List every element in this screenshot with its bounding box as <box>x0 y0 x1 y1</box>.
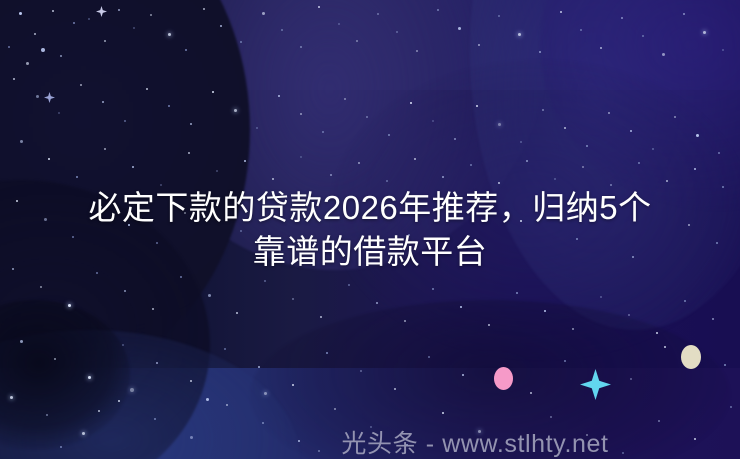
star-dot <box>460 306 462 308</box>
star-dot <box>236 312 238 314</box>
band-top <box>0 0 740 90</box>
star-dot <box>432 288 434 290</box>
star-dot <box>122 344 124 346</box>
star-dot <box>52 10 54 12</box>
watermark-text: 光头条 - www.stlhty.net <box>341 424 608 459</box>
star-dot <box>410 102 412 104</box>
small-sparkle-left <box>44 92 55 103</box>
star-dot <box>658 420 660 422</box>
star-dot <box>386 180 388 182</box>
star-dot <box>300 156 302 158</box>
star-dot <box>203 8 205 10</box>
star-dot <box>216 170 218 172</box>
star-dot <box>572 328 574 330</box>
star-dot <box>703 31 706 34</box>
blue-blob-right <box>470 0 740 330</box>
star-dot <box>88 18 90 20</box>
star-dot <box>462 374 464 376</box>
indigo-blob-right <box>540 0 740 210</box>
star-dot <box>694 168 696 170</box>
star-dot <box>156 362 158 364</box>
star-dot <box>580 29 582 31</box>
star-dot <box>642 35 644 37</box>
star-dot <box>10 396 13 399</box>
star-dot <box>498 123 501 126</box>
star-dot <box>133 27 135 29</box>
star-dot <box>358 162 360 164</box>
star-dot <box>58 112 60 114</box>
star-dot <box>80 84 82 86</box>
star-dot <box>652 148 654 150</box>
star-dot <box>600 47 602 49</box>
star-dot <box>190 123 192 125</box>
star-dot <box>684 300 686 302</box>
star-dot <box>20 140 23 143</box>
star-dot <box>348 284 350 286</box>
pink-oval <box>494 367 513 390</box>
star-dot <box>19 12 22 15</box>
star-dot <box>60 55 62 57</box>
star-dot <box>554 178 556 180</box>
star-dot <box>458 27 461 30</box>
star-dot <box>88 376 91 379</box>
star-dot <box>520 141 522 143</box>
star-dot <box>292 384 294 386</box>
star-dot <box>416 50 418 52</box>
star-dot <box>318 6 320 8</box>
star-dot <box>278 95 280 97</box>
star-dot <box>366 116 368 118</box>
star-dot <box>356 40 358 42</box>
star-dot <box>326 352 328 354</box>
star-dot <box>724 364 726 366</box>
star-dot <box>432 120 434 122</box>
star-dot <box>488 324 490 326</box>
star-dot <box>244 160 246 162</box>
star-dot <box>730 406 732 408</box>
star-dot <box>630 378 632 380</box>
star-dot <box>560 11 562 13</box>
star-dot <box>124 120 126 122</box>
star-dot <box>150 14 152 16</box>
star-dot <box>281 29 283 31</box>
star-dot <box>132 166 134 168</box>
star-dot <box>666 180 668 182</box>
star-dot <box>76 176 78 178</box>
star-dot <box>388 134 390 136</box>
star-dot <box>118 400 120 402</box>
star-dot <box>234 109 237 112</box>
star-dot <box>264 392 267 395</box>
star-dot <box>130 388 134 392</box>
star-dot <box>476 105 478 107</box>
star-dot <box>518 33 521 36</box>
star-dot <box>330 174 332 176</box>
star-dot <box>300 46 302 48</box>
star-dot <box>152 308 154 310</box>
star-dot <box>360 370 362 372</box>
star-dot <box>264 280 266 282</box>
star-dot <box>322 131 324 133</box>
star-dot <box>258 366 260 368</box>
star-dot <box>168 33 171 36</box>
star-dot <box>34 33 36 35</box>
star-dot <box>442 412 444 414</box>
star-dot <box>292 298 294 300</box>
star-dot <box>104 40 106 42</box>
star-dot <box>226 404 228 406</box>
star-dot <box>696 134 699 137</box>
star-dot <box>48 158 50 160</box>
star-dot <box>20 340 23 343</box>
star-dot <box>396 31 398 33</box>
star-dot <box>674 116 676 118</box>
star-dot <box>377 13 379 15</box>
star-dot <box>437 9 439 11</box>
star-dot <box>586 145 588 147</box>
star-dot <box>8 46 10 48</box>
star-dot <box>542 109 544 111</box>
star-dot <box>206 398 209 401</box>
star-dot <box>442 176 444 178</box>
star-dot <box>600 296 602 298</box>
star-dot <box>334 408 336 410</box>
star-dot <box>470 164 472 166</box>
star-dot <box>240 41 242 43</box>
star-dot <box>73 22 75 24</box>
star-dot <box>26 62 29 65</box>
star-dot <box>498 15 500 17</box>
star-dot <box>190 380 192 382</box>
star-dot <box>54 358 56 360</box>
star-dot <box>683 13 685 15</box>
star-dot <box>146 88 148 90</box>
star-dot <box>98 410 100 412</box>
star-dot <box>664 346 666 348</box>
star-dot <box>168 105 170 107</box>
star-dot <box>638 162 640 164</box>
star-dot <box>662 53 665 56</box>
star-dot <box>102 101 104 103</box>
star-dot <box>404 320 406 322</box>
star-dot <box>256 127 258 129</box>
star-dot <box>608 112 610 114</box>
star-dot <box>564 360 566 362</box>
star-dot <box>718 152 720 154</box>
star-dot <box>188 152 190 154</box>
star-dot <box>185 49 187 51</box>
star-dot <box>564 127 566 129</box>
star-dot <box>118 9 120 11</box>
star-dot <box>338 23 340 25</box>
star-dot <box>376 302 378 304</box>
star-dot <box>104 148 106 150</box>
watermark: 光头条 - www.stlhty.net <box>0 424 740 459</box>
star-dot <box>498 182 500 184</box>
star-dot <box>454 138 456 140</box>
star-dot <box>13 78 15 80</box>
star-dot <box>478 44 480 46</box>
star-dot <box>526 160 528 162</box>
star-dot <box>344 98 346 100</box>
star-dot <box>272 178 274 180</box>
star-dot <box>550 416 552 418</box>
star-dot <box>180 276 182 278</box>
star-dot <box>212 91 214 93</box>
star-dot <box>40 286 42 288</box>
cyan-sparkle <box>580 369 611 400</box>
star-dot <box>530 392 532 394</box>
star-dot <box>628 314 630 316</box>
star-dot <box>516 292 518 294</box>
star-dot <box>712 318 714 320</box>
star-dot <box>300 113 302 115</box>
star-dot <box>46 414 48 416</box>
star-dot <box>224 348 226 350</box>
small-sparkle-topleft <box>96 6 107 17</box>
star-dot <box>394 388 396 390</box>
star-dot <box>544 310 546 312</box>
star-dot <box>630 130 632 132</box>
star-dot <box>36 95 39 98</box>
star-dot <box>220 25 222 27</box>
star-dot <box>656 332 658 334</box>
cream-oval <box>681 345 701 369</box>
star-dot <box>428 356 430 358</box>
star-dot <box>539 51 541 53</box>
star-dot <box>722 49 724 51</box>
star-dot <box>208 294 211 297</box>
star-dot <box>414 158 416 160</box>
star-dot <box>621 17 623 19</box>
poster-canvas: 必定下款的贷款2026年推荐，归纳5个 靠谱的借款平台 光头条 - www.st… <box>0 0 740 459</box>
star-dot <box>262 12 265 15</box>
poster-title: 必定下款的贷款2026年推荐，归纳5个 靠谱的借款平台 <box>0 186 740 274</box>
star-dot <box>124 290 126 292</box>
star-dot <box>154 418 156 420</box>
star-dot <box>582 166 584 168</box>
star-dot <box>320 316 322 318</box>
star-dot <box>68 304 71 307</box>
star-dot <box>41 48 45 52</box>
